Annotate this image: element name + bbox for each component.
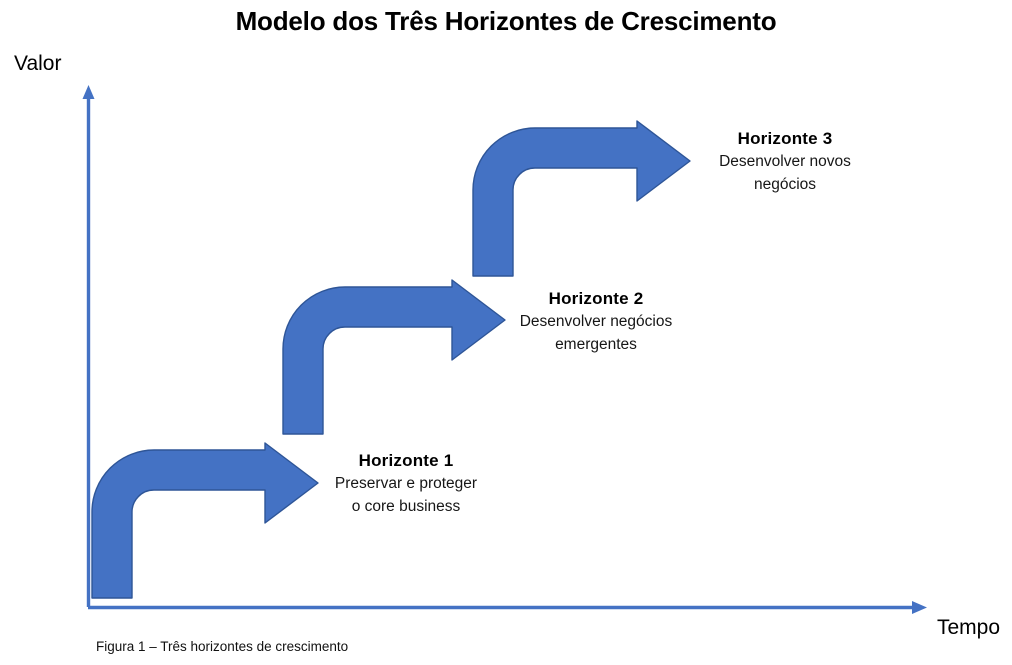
horizon-label-2: Horizonte 2 Desenvolver negócios emergen… xyxy=(487,288,705,356)
page-title: Modelo dos Três Horizontes de Cresciment… xyxy=(0,6,1012,37)
figure-canvas: Modelo dos Três Horizontes de Cresciment… xyxy=(0,0,1012,665)
axis-arrow-right-icon xyxy=(88,601,927,614)
horizon-desc-3-line2: negócios xyxy=(676,173,894,196)
bent-arrow-icon-2 xyxy=(283,280,505,434)
horizon-title-1: Horizonte 1 xyxy=(297,450,515,472)
horizon-desc-2-line1: Desenvolver negócios xyxy=(487,310,705,333)
horizon-desc-1-line1: Preservar e proteger xyxy=(297,472,515,495)
caption-line-1: Figura 1 – Três horizontes de cresciment… xyxy=(96,637,495,656)
horizon-title-3: Horizonte 3 xyxy=(676,128,894,150)
horizon-desc-3-line1: Desenvolver novos xyxy=(676,150,894,173)
y-axis-label: Valor xyxy=(14,52,61,76)
x-axis-label: Tempo xyxy=(937,616,1000,640)
horizon-label-1: Horizonte 1 Preservar e proteger o core … xyxy=(297,450,515,518)
horizon-desc-1-line2: o core business xyxy=(297,495,515,518)
figure-caption: Figura 1 – Três horizontes de cresciment… xyxy=(96,618,495,665)
bent-arrow-icon-1 xyxy=(92,443,318,598)
bent-arrow-icon-3 xyxy=(473,121,690,276)
horizon-label-3: Horizonte 3 Desenvolver novos negócios xyxy=(676,128,894,196)
horizon-title-2: Horizonte 2 xyxy=(487,288,705,310)
horizon-desc-2-line2: emergentes xyxy=(487,333,705,356)
